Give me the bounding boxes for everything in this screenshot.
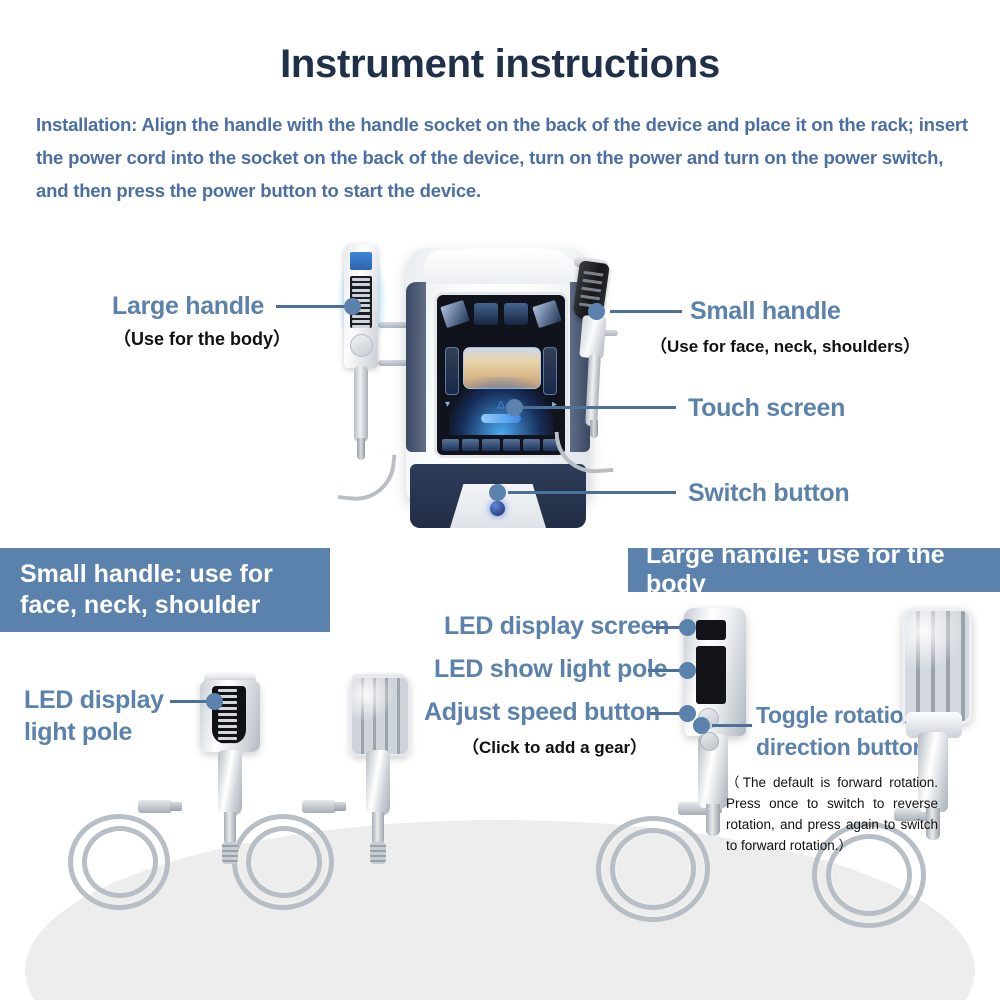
infographic-page: Instrument instructions Installation: Al… (0, 0, 1000, 1000)
small-handle-led-stem (224, 812, 236, 846)
screen-bottom-button-row (442, 439, 560, 451)
callout-adjust-speed-note: （Click to add a gear） (462, 733, 647, 758)
small-handle-cord (555, 428, 614, 476)
screen-button-5 (523, 439, 540, 451)
large-handle-lcd-icon (350, 252, 372, 270)
wand-left-icon (440, 300, 470, 328)
mode-icon-1 (474, 303, 498, 325)
page-title: Instrument instructions (0, 42, 1000, 87)
callout-small-handle-label: Small handle (690, 297, 841, 326)
touch-screen[interactable]: ▾ △ ▸ (434, 292, 568, 458)
leader-dot-switch-button (489, 484, 506, 501)
leader-dot-led-display-light-pole (206, 693, 223, 710)
toggle-rotation-description: （The default is forward rotation. Press … (726, 772, 938, 856)
screen-button-4 (503, 439, 520, 451)
callout-adjust-speed-button: Adjust speed button (424, 698, 660, 727)
mode-icon-2 (504, 303, 528, 325)
leader-line-small-handle (610, 310, 682, 313)
banner-large-handle: Large handle: use for the body (628, 548, 1000, 592)
leader-dot-toggle-rotation (693, 717, 710, 734)
large-handle-control-stem (706, 804, 720, 836)
leader-line-touch-screen (520, 406, 676, 409)
leader-line-toggle-rotation (712, 724, 752, 727)
power-switch-button[interactable] (490, 501, 505, 516)
wand-right-icon (532, 300, 562, 328)
small-handle-led-grip (218, 750, 242, 816)
callout-large-handle-note: （Use for the body） (113, 325, 291, 351)
large-handle-roller-head (902, 608, 972, 724)
cable-connector (138, 800, 172, 813)
leader-line-large-handle (276, 305, 352, 308)
callout-led-display-light-pole-line1: LED display (24, 686, 164, 715)
large-handle-led-show-light-pole (696, 646, 726, 704)
leader-line-switch-button (508, 491, 676, 494)
callout-led-display-light-pole-line2: light pole (24, 718, 132, 747)
banner-small-handle: Small handle: use for face, neck, should… (0, 548, 330, 632)
device-small-handle (562, 258, 622, 478)
console-left-panel (406, 282, 426, 452)
small-handle-roller-stem (372, 812, 384, 846)
console-top-bevel (424, 250, 572, 284)
large-handle-led-display-screen (696, 620, 726, 640)
callout-led-show-light-pole: LED show light pole (434, 655, 667, 684)
banner-large-handle-text: Large handle: use for the body (646, 541, 1000, 599)
large-handle-neck (354, 366, 368, 442)
screen-button-1 (442, 439, 459, 451)
callout-switch-button-label: Switch button (688, 479, 849, 508)
leader-dot-touch-screen (506, 399, 523, 416)
small-handle-body (579, 315, 607, 359)
screen-button-3 (482, 439, 499, 451)
callout-small-handle-note: （Use for face, neck, shoulders） (650, 332, 920, 357)
callout-led-display-screen: LED display screen (444, 612, 669, 641)
cable-connector (302, 800, 336, 813)
large-handle-toggle-rotation-direction-button[interactable] (700, 732, 719, 751)
small-handle-led-strain-relief (222, 842, 238, 864)
callout-toggle-rotation-line1: Toggle rotation (756, 702, 917, 729)
large-handle-button (350, 334, 373, 357)
screen-ui: ▾ △ ▸ (437, 295, 565, 455)
screen-button-2 (462, 439, 479, 451)
small-handle-neck (585, 354, 601, 427)
leader-dot-large-handle (344, 298, 361, 315)
installation-instructions-text: Installation: Align the handle with the … (36, 108, 972, 207)
leader-dot-small-handle (588, 303, 605, 320)
small-handle-roller-strain-relief (370, 842, 386, 864)
cable-loop-inner (82, 826, 158, 898)
screen-top-icon-row (443, 303, 559, 329)
leader-dot-adjust-speed-button (679, 705, 696, 722)
small-handle-roller-unit (348, 672, 410, 872)
callout-touch-screen-label: Touch screen (688, 394, 845, 423)
small-handle-roller-grip (366, 750, 390, 816)
leader-dot-led-show-light-pole (679, 662, 696, 679)
callout-large-handle-label: Large handle (112, 292, 264, 321)
leader-dot-led-display-screen (679, 619, 696, 636)
banner-small-handle-text: Small handle: use for face, neck, should… (20, 559, 330, 621)
large-handle-cord (338, 449, 397, 504)
small-handle-roller-head (350, 676, 410, 756)
device-large-handle (330, 238, 392, 478)
